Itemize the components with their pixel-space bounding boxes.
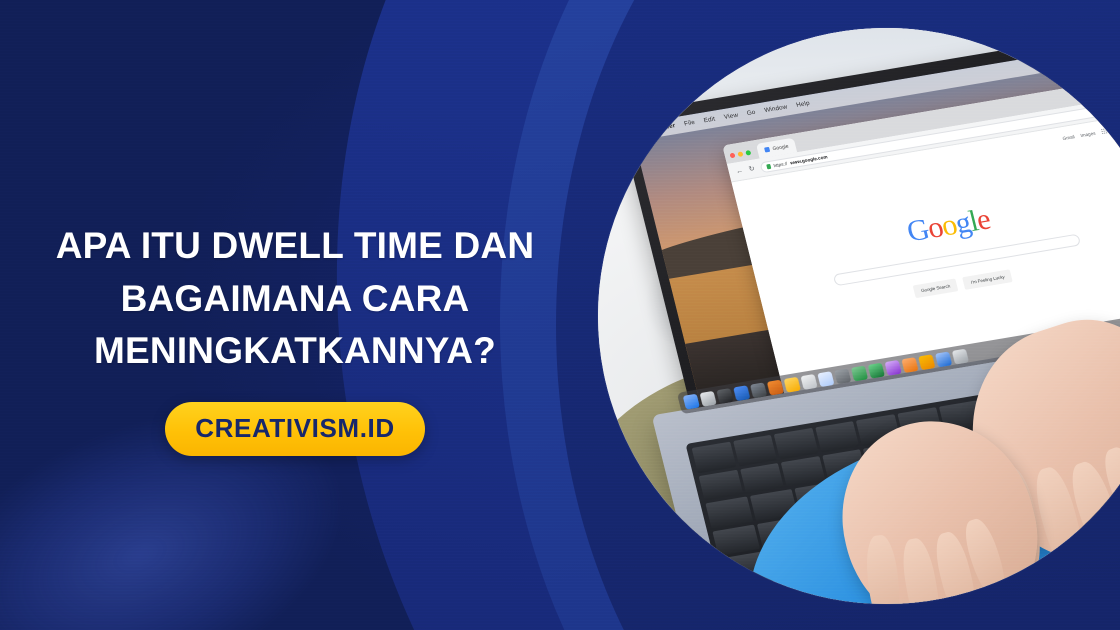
dock-podcasts-icon[interactable] <box>901 357 918 373</box>
key <box>699 469 743 500</box>
dock-calendar-icon[interactable] <box>767 380 784 396</box>
menubar-item-window[interactable]: Window <box>764 103 789 114</box>
menubar-item-help[interactable]: Help <box>795 100 810 109</box>
menubar-item-file[interactable]: File <box>683 119 695 128</box>
battery-icon[interactable] <box>1039 61 1046 68</box>
headline-line-1: APA ITU DWELL TIME DAN <box>40 220 550 273</box>
dock-appstore-icon[interactable] <box>918 354 935 370</box>
brand-badge-wrap: CREATIVISM.ID <box>40 402 550 456</box>
avatar[interactable] <box>1112 125 1120 134</box>
google-search-button[interactable]: Google Search <box>913 278 959 298</box>
dock-music-icon[interactable] <box>885 360 902 376</box>
apple-logo-icon[interactable]:  <box>639 127 647 136</box>
wifi-icon[interactable] <box>1050 59 1057 66</box>
brand-badge[interactable]: CREATIVISM.ID <box>165 402 424 456</box>
photo-stage:  Finder File Edit View Go Window Help <box>598 28 1120 604</box>
key <box>692 442 736 473</box>
back-icon[interactable]: ← <box>735 167 744 175</box>
headline-line-2: BAGAIMANA CARA <box>40 273 550 326</box>
promo-banner:  Finder File Edit View Go Window Help <box>0 0 1120 630</box>
images-link[interactable]: Images <box>1080 130 1096 137</box>
dock-photos-icon[interactable] <box>834 368 851 384</box>
dock-contacts-icon[interactable] <box>750 382 767 398</box>
key <box>733 435 777 466</box>
dock-maps-icon[interactable] <box>817 371 834 387</box>
key <box>705 497 753 529</box>
maximize-icon[interactable] <box>745 150 751 156</box>
apps-grid-icon[interactable] <box>1100 128 1107 135</box>
google-buttons: Google Search I'm Feeling Lucky <box>913 269 1013 298</box>
google-logo: Google <box>904 203 994 250</box>
dock-mail-icon[interactable] <box>733 385 750 401</box>
menubar-item-view[interactable]: View <box>723 112 739 121</box>
laptop-photo-circle:  Finder File Edit View Go Window Help <box>598 28 1120 604</box>
content-column: APA ITU DWELL TIME DAN BAGAIMANA CARA ME… <box>40 220 550 456</box>
key <box>740 463 784 494</box>
key <box>815 421 859 452</box>
dock-preferences-icon[interactable] <box>935 351 952 367</box>
dock-facetime-icon[interactable] <box>868 363 885 379</box>
dock-safari-icon[interactable] <box>716 388 733 404</box>
close-icon[interactable] <box>729 153 735 159</box>
finger <box>863 534 903 604</box>
minimize-icon[interactable] <box>737 151 743 157</box>
dock-reminders-icon[interactable] <box>800 374 817 390</box>
page-title: APA ITU DWELL TIME DAN BAGAIMANA CARA ME… <box>40 220 550 378</box>
menubar-clock[interactable]: Mon 2:14 <box>1072 51 1101 62</box>
dock-notes-icon[interactable] <box>784 377 801 393</box>
key <box>712 524 760 556</box>
url-host: www.google.com <box>789 154 827 165</box>
lock-icon <box>766 163 771 169</box>
key <box>774 428 818 459</box>
dock-finder-icon[interactable] <box>683 394 700 410</box>
dock-trash-icon[interactable] <box>952 349 969 365</box>
dock-messages-icon[interactable] <box>851 366 868 382</box>
url-scheme: https:// <box>773 161 788 168</box>
headline-line-3: MENINGKATKANNYA? <box>40 325 550 378</box>
menubar-item-edit[interactable]: Edit <box>703 116 716 125</box>
google-favicon-icon <box>764 147 770 153</box>
google-topnav: Gmail Images <box>1062 125 1120 143</box>
feeling-lucky-button[interactable]: I'm Feeling Lucky <box>962 269 1013 290</box>
control-center-icon[interactable] <box>1061 57 1068 64</box>
menubar-item-finder[interactable]: Finder <box>655 122 677 132</box>
menubar-item-go[interactable]: Go <box>746 109 756 117</box>
reload-icon[interactable]: ↻ <box>748 165 756 173</box>
gmail-link[interactable]: Gmail <box>1062 134 1075 141</box>
browser-tab-title: Google <box>772 143 789 151</box>
dock-launchpad-icon[interactable] <box>700 391 717 407</box>
